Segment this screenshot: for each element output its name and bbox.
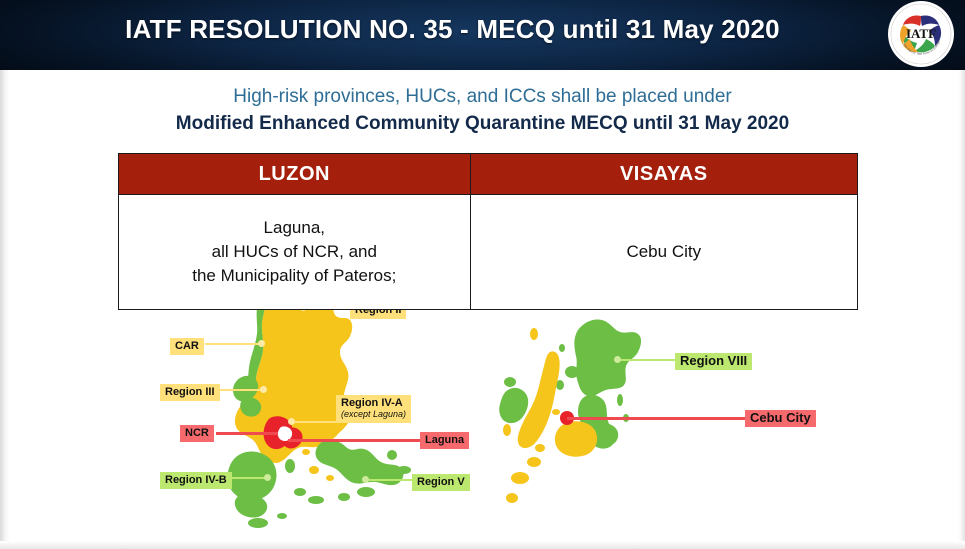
subtitle-line-2: Modified Enhanced Community Quarantine M…	[0, 110, 965, 138]
mecq-areas-table: LUZON VISAYAS Laguna, all HUCs of NCR, a…	[118, 153, 858, 310]
luzon-label-laguna: Laguna	[420, 432, 469, 449]
luzon-label-region-iv-a-note: (except Laguna)	[341, 409, 406, 420]
luzon-green-zambales2	[240, 397, 261, 416]
luzon-label-region-iva-lead	[292, 421, 338, 423]
luzon-label-laguna-lead	[288, 439, 420, 442]
leyte-green	[578, 395, 615, 449]
isle-f	[294, 488, 306, 496]
iatf-logo-text: IATF	[906, 26, 936, 41]
isle-yellow-a	[309, 466, 319, 474]
isle-b	[397, 466, 411, 474]
luzon-label-region-ivb-dot	[264, 474, 271, 481]
slide-canvas: Region I Region II CAR Region III Region…	[0, 0, 965, 549]
header-banner: IATF RESOLUTION NO. 35 - MECQ until 31 M…	[0, 0, 965, 70]
visayas-label-cebu-city-lead	[567, 417, 745, 420]
luzon-label-ncr: NCR	[180, 425, 214, 442]
table-header-luzon: LUZON	[119, 154, 471, 195]
table-header-row: LUZON VISAYAS	[119, 154, 858, 195]
luzon-label-region-iv-a: Region IV-A (except Laguna)	[336, 395, 411, 423]
table-header-visayas: VISAYAS	[470, 154, 857, 195]
laguna-red-area	[282, 427, 303, 448]
luzon-label-car-lead	[205, 343, 263, 345]
isle-e	[285, 459, 295, 473]
luzon-label-region-iva-dot	[288, 418, 295, 425]
luzon-label-region-ivb-lead	[222, 477, 268, 479]
visayas-label-region-viii-dot	[614, 356, 621, 363]
iatf-logo: IATF Inter-Agency Task Force on Emerging…	[890, 3, 952, 65]
region-v-green2	[350, 459, 370, 478]
cebu-city-red-dot	[560, 411, 574, 425]
luzon-label-region-iii-lead	[215, 389, 265, 391]
laguna-de-bay	[278, 426, 292, 441]
isle-y4	[552, 409, 560, 415]
luzon-label-region-v: Region V	[412, 474, 470, 491]
isle-v1	[556, 380, 564, 390]
table-cell-visayas: Cebu City	[470, 195, 857, 310]
luzon-label-region-iv-b: Region IV-B	[160, 472, 232, 489]
bohol-yellow	[555, 421, 597, 456]
luzon-yellow	[235, 283, 352, 463]
luzon-area-line-3: the Municipality of Pateros;	[127, 264, 462, 288]
visayas-label-region-viii-lead	[618, 359, 675, 361]
isle-a	[387, 450, 397, 460]
luzon-label-region-v-lead	[366, 479, 412, 481]
isle-c	[357, 487, 375, 497]
isle-y1	[527, 457, 541, 467]
luzon-label-ncr-lead	[216, 432, 278, 435]
leyte-green2	[598, 423, 619, 445]
region-ivb-green	[228, 451, 277, 500]
table-cell-luzon: Laguna, all HUCs of NCR, and the Municip…	[119, 195, 471, 310]
region-v-green	[315, 440, 403, 485]
isle-v4	[559, 344, 565, 352]
isle-y6	[503, 424, 511, 436]
subtitle-line-1: High-risk provinces, HUCs, and ICCs shal…	[0, 84, 965, 110]
luzon-label-region-iii: Region III	[160, 384, 220, 401]
luzon-green-zambales	[233, 376, 258, 402]
samar-green	[574, 319, 641, 396]
ncr-red-area	[264, 416, 293, 449]
isle-yellow-b	[326, 475, 334, 481]
table-row: Laguna, all HUCs of NCR, and the Municip…	[119, 195, 858, 310]
luzon-label-car-dot	[258, 340, 265, 347]
isle-v2	[617, 394, 623, 406]
isle-g	[308, 496, 324, 504]
region-ivb-green2	[235, 494, 267, 518]
luzon-label-region-iii-dot	[260, 386, 267, 393]
iatf-logo-svg: IATF Inter-Agency Task Force on Emerging…	[890, 3, 952, 65]
page-edge-bottom	[0, 541, 965, 549]
isle-yellow-c	[302, 449, 310, 455]
isle-negros-n	[504, 377, 516, 387]
isle-d	[338, 493, 350, 501]
page-edge-left	[0, 70, 10, 549]
subtitle-block: High-risk provinces, HUCs, and ICCs shal…	[0, 84, 965, 138]
luzon-label-car: CAR	[170, 338, 204, 355]
cebu-yellow	[518, 351, 560, 448]
luzon-area-line-2: all HUCs of NCR, and	[127, 240, 462, 264]
visayas-label-region-viii: Region VIII	[675, 353, 752, 370]
visayas-label-cebu-city: Cebu City	[745, 410, 816, 427]
page-title: IATF RESOLUTION NO. 35 - MECQ until 31 M…	[0, 14, 965, 45]
luzon-label-region-v-dot	[362, 476, 369, 483]
isle-y3	[535, 444, 545, 452]
isle-v3	[623, 414, 629, 422]
isle-i	[277, 513, 287, 519]
isle-biliran	[565, 366, 579, 378]
isle-y7	[530, 328, 538, 340]
page-edge-right	[957, 70, 965, 549]
luzon-area-line-1: Laguna,	[127, 216, 462, 240]
isle-y5	[506, 493, 518, 503]
visayas-landmass	[499, 319, 641, 503]
isle-y2	[511, 472, 529, 484]
isle-h	[248, 518, 268, 528]
negros-green	[499, 388, 528, 423]
